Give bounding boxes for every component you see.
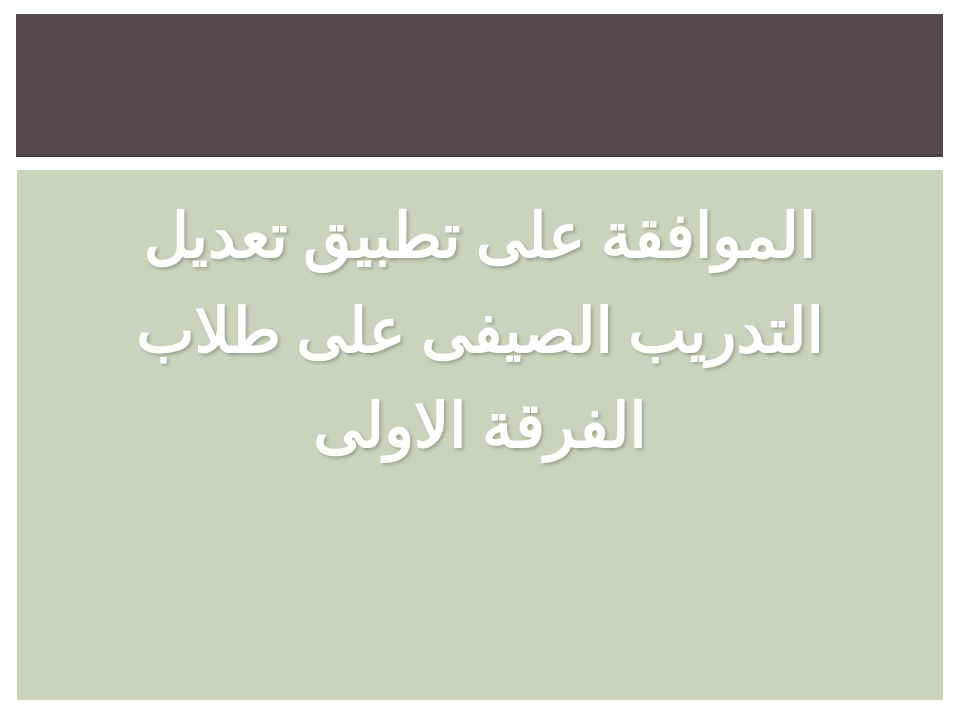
slide-canvas: الموافقة على تطبيق تعديل التدريب الصيفى … xyxy=(0,0,960,720)
slide-title-line-2: التدريب الصيفى على طلاب xyxy=(53,285,907,380)
slide-title-line-1: الموافقة على تطبيق تعديل xyxy=(53,190,907,285)
slide-title: الموافقة على تطبيق تعديل التدريب الصيفى … xyxy=(53,190,907,475)
slide-title-panel: الموافقة على تطبيق تعديل التدريب الصيفى … xyxy=(17,170,943,700)
slide-title-line-3: الفرقة الاولى xyxy=(53,380,907,475)
slide-header-band xyxy=(16,14,943,157)
